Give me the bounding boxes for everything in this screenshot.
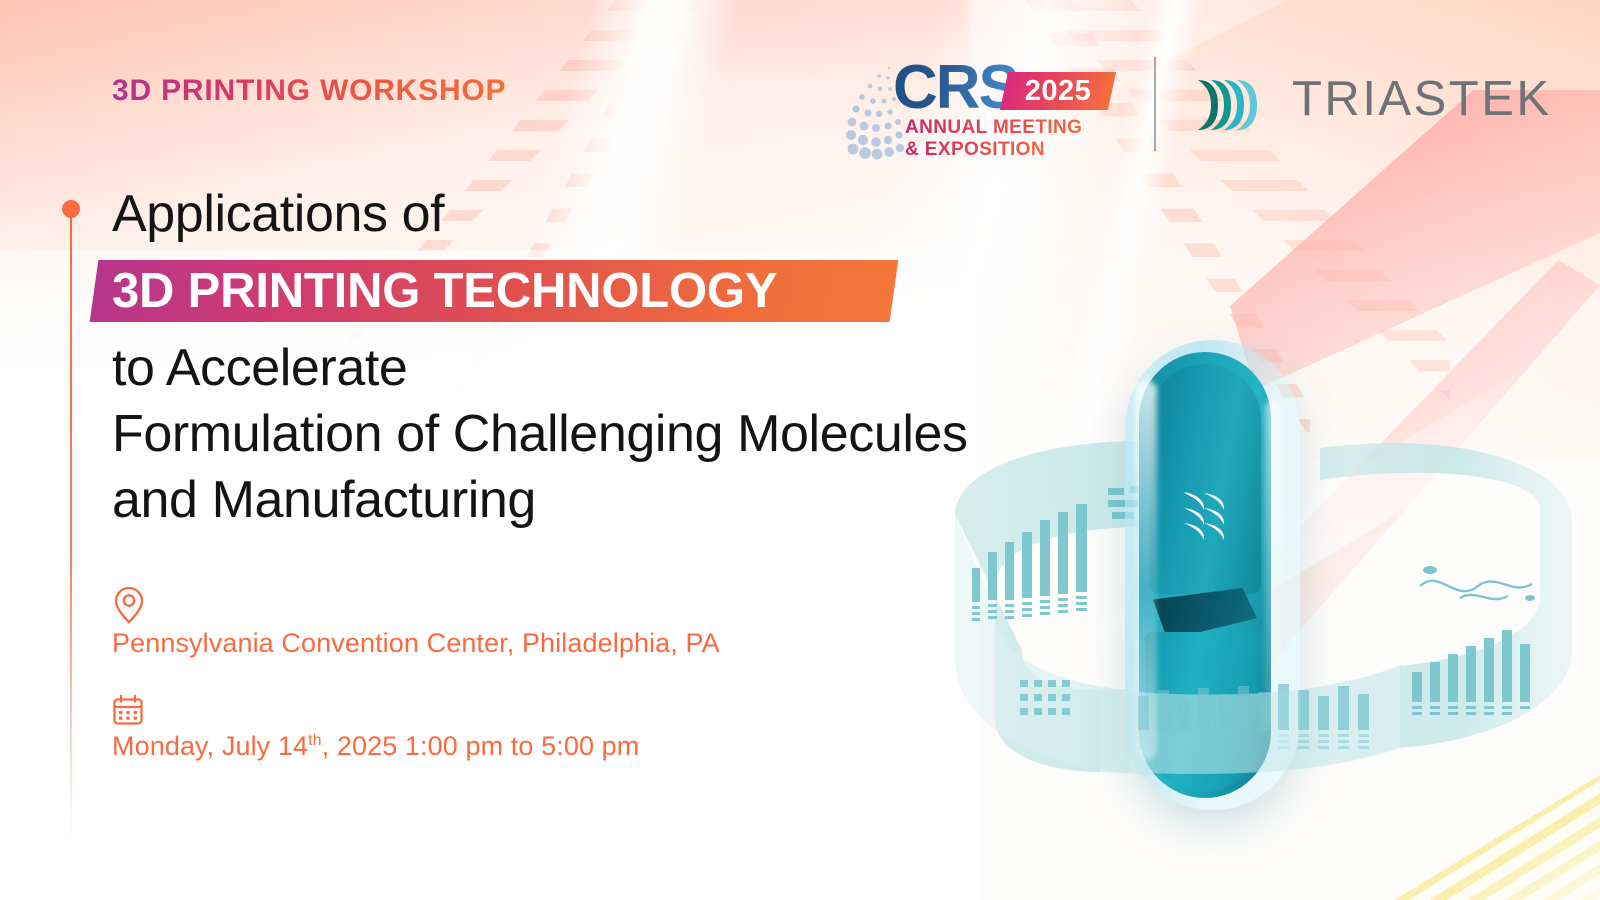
title-line-3: to Accelerate bbox=[112, 338, 407, 398]
3d-printed-capsule-image bbox=[900, 300, 1600, 900]
accent-line bbox=[70, 216, 72, 840]
title-line-1: Applications of bbox=[112, 184, 444, 244]
date-text: Monday, July 14th, 2025 1:00 pm to 5:00 … bbox=[112, 731, 639, 762]
title-highlight-text: 3D PRINTING TECHNOLOGY bbox=[112, 262, 777, 320]
crs-year-badge-label: 2025 bbox=[1004, 72, 1112, 110]
title-line-5: and Manufacturing bbox=[112, 470, 536, 530]
date-ordinal: th bbox=[308, 732, 322, 749]
location-text: Pennsylvania Convention Center, Philadel… bbox=[112, 628, 720, 659]
workshop-kicker: 3D PRINTING WORKSHOP bbox=[112, 74, 506, 108]
calendar-icon bbox=[112, 694, 144, 726]
poster-canvas: 3D PRINTING WORKSHOP bbox=[0, 0, 1600, 900]
logo-divider bbox=[1154, 57, 1156, 151]
triastek-wave-mark-icon bbox=[1196, 76, 1274, 134]
capsule-highlight-right bbox=[1265, 400, 1281, 730]
triastek-wave-mark-icon bbox=[1181, 490, 1233, 552]
triastek-logo: TRIASTEK bbox=[1196, 72, 1526, 138]
capsule-body bbox=[1125, 340, 1300, 810]
title-line-4: Formulation of Challenging Molecules bbox=[112, 404, 968, 464]
date-day: Monday, July 14 bbox=[112, 731, 308, 761]
triastek-wordmark: TRIASTEK bbox=[1292, 71, 1552, 127]
crs-year-badge: 2025 bbox=[1000, 72, 1116, 110]
capsule-lower-half bbox=[1145, 632, 1263, 792]
date-rest: , 2025 1:00 pm to 5:00 pm bbox=[322, 731, 640, 761]
crs-subtitle-line-2: & EXPOSITION bbox=[905, 140, 1045, 160]
capsule-upper-half bbox=[1149, 364, 1261, 594]
crs-logo: CRS 2025 ANNUAL MEETING & EXPOSITION bbox=[845, 55, 1115, 165]
accent-rule bbox=[62, 200, 82, 840]
crs-subtitle-line-1: ANNUAL MEETING bbox=[905, 118, 1082, 138]
capsule-highlight-left bbox=[1135, 380, 1157, 760]
location-pin-icon bbox=[112, 586, 146, 624]
